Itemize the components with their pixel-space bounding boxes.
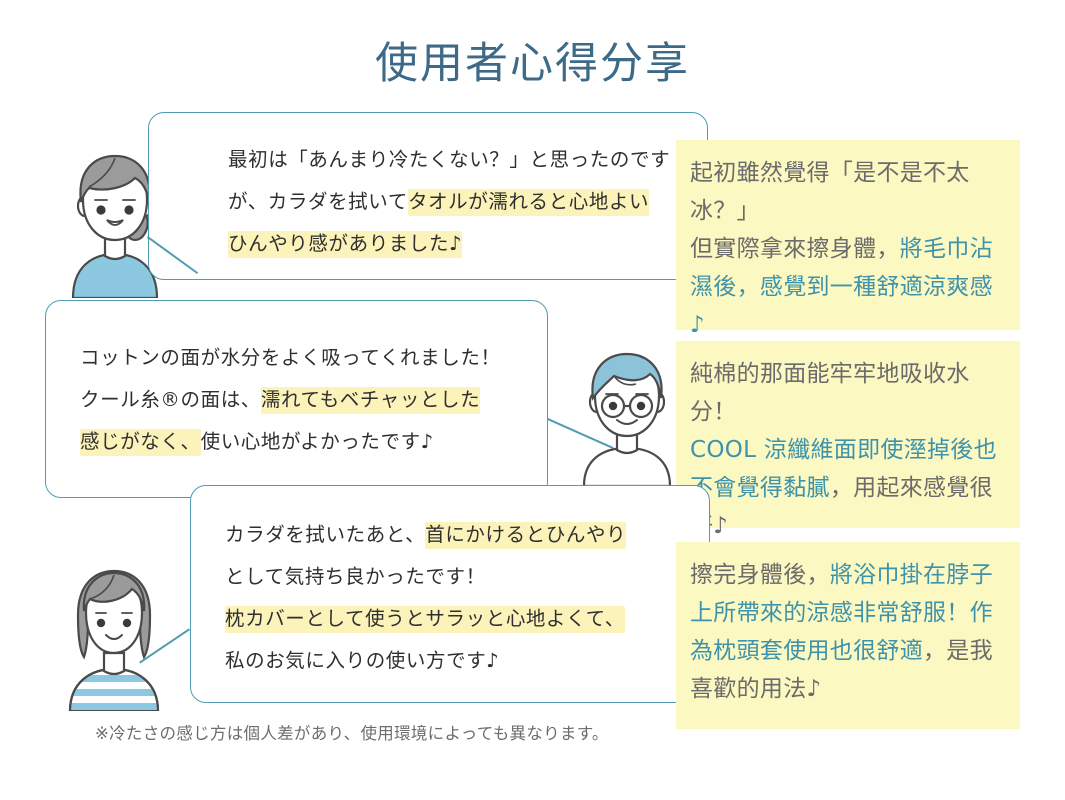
plain-span: 最初は「あんまり冷たくない？」と思ったのです	[228, 148, 670, 171]
testimonial-2-jp-text: コットンの面が水分をよく吸ってくれました！ クール糸®の面は、濡れてもベチャッと…	[80, 337, 540, 463]
emphasis-span: 枕カバーとして使うとサラッと心地よくて、	[225, 606, 625, 633]
emphasis-span: 濡れてもベチャッとした	[261, 387, 480, 414]
plain-span: カラダを拭いたあと、	[225, 523, 425, 546]
emphasis-span: タオルが濡れると心地よい	[408, 189, 649, 216]
emphasis-span: 首にかけるとひんやり	[425, 522, 626, 549]
emphasis-span: 感じがなく、	[80, 429, 201, 456]
translation-panel-2: 純棉的那面能牢牢地吸收水分！ COOL 涼纖維面即使溼掉後也不會覺得黏膩，用起來…	[676, 341, 1020, 528]
infographic-canvas: 使用者心得分享 最初は「あん	[0, 0, 1065, 800]
testimonial-3-zh-text: 擦完身體後，將浴巾掛在脖子上所帶來的涼感非常舒服！作為枕頭套使用也很舒適，是我喜…	[690, 556, 1006, 708]
plain-span: 純棉的那面能牢牢地吸收水分！	[690, 361, 970, 425]
plain-span: として気持ち良かったです！	[225, 565, 486, 588]
plain-span: 擦完身體後，	[690, 562, 830, 588]
emphasis-span: ひんやり感がありました♪	[228, 231, 462, 258]
testimonial-3-jp-text: カラダを拭いたあと、首にかけるとひんやり として気持ち良かったです！ 枕カバーと…	[225, 514, 675, 682]
testimonial-1-zh-text: 起初雖然覺得「是不是不太冰？」 但實際拿來擦身體，將毛巾沾濕後，感覺到一種舒適涼…	[690, 154, 1006, 344]
plain-span: 使い心地がよかったです♪	[201, 430, 434, 453]
testimonial-1-jp-text: 最初は「あんまり冷たくない？」と思ったのですが、カラダを拭いてタオルが濡れると心…	[228, 139, 678, 265]
plain-span: 私のお気に入りの使い方です♪	[225, 649, 499, 672]
page-title: 使用者心得分享	[0, 38, 1065, 90]
translation-panel-3: 擦完身體後，將浴巾掛在脖子上所帶來的涼感非常舒服！作為枕頭套使用也很舒適，是我喜…	[676, 542, 1020, 729]
avatar-woman-bob	[52, 565, 177, 711]
translation-panel-1: 起初雖然覺得「是不是不太冰？」 但實際拿來擦身體，將毛巾沾濕後，感覺到一種舒適涼…	[676, 140, 1020, 330]
plain-span: が、カラダを拭いて	[228, 190, 408, 213]
avatar-man-glasses	[568, 350, 686, 486]
footnote-disclaimer: ※冷たさの感じ方は個人差があり、使用環境によっても異なります。	[95, 722, 609, 746]
testimonial-2-zh-text: 純棉的那面能牢牢地吸收水分！ COOL 涼纖維面即使溼掉後也不會覺得黏膩，用起來…	[690, 355, 1006, 545]
